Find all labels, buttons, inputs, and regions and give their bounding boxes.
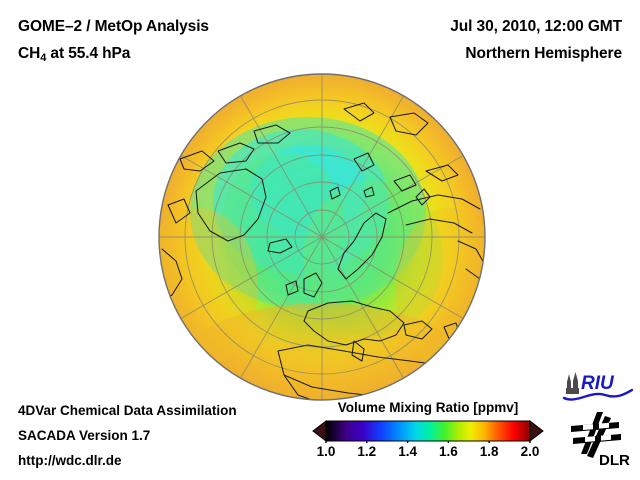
colorbar: Volume Mixing Ratio [ppmv] (312, 400, 544, 464)
species-suffix: at 55.4 hPa (46, 45, 130, 62)
colorbar-tick-labels: 1.0 1.2 1.4 1.6 1.8 2.0 (312, 444, 544, 464)
cathedral-icon (566, 372, 579, 394)
colorbar-tick: 1.8 (480, 444, 499, 459)
globe-map (158, 73, 486, 401)
riu-wordmark: RIU (581, 373, 615, 394)
colorbar-tick: 1.6 (439, 444, 458, 459)
colorbar-tick: 1.0 (317, 444, 336, 459)
colorbar-title: Volume Mixing Ratio [ppmv] (312, 400, 544, 415)
species-prefix: CH (18, 45, 40, 62)
dlr-logo: DLR (567, 410, 635, 468)
colorbar-gradient (312, 419, 544, 443)
dlr-wordmark: DLR (599, 452, 630, 468)
assimilation-label: 4DVar Chemical Data Assimilation (18, 403, 237, 418)
riu-logo: RIU (561, 370, 635, 404)
wdc-url-link[interactable]: http://wdc.dlr.de (18, 453, 122, 468)
version-label: SACADA Version 1.7 (18, 428, 150, 443)
page-title: GOME–2 / MetOp Analysis (18, 18, 209, 36)
colorbar-tick: 1.4 (398, 444, 417, 459)
region-label: Northern Hemisphere (465, 45, 622, 63)
species-level-label: CH4 at 55.4 hPa (18, 45, 130, 64)
colorbar-tick: 1.2 (357, 444, 376, 459)
colorbar-tick: 2.0 (521, 444, 540, 459)
datetime-label: Jul 30, 2010, 12:00 GMT (450, 18, 622, 36)
